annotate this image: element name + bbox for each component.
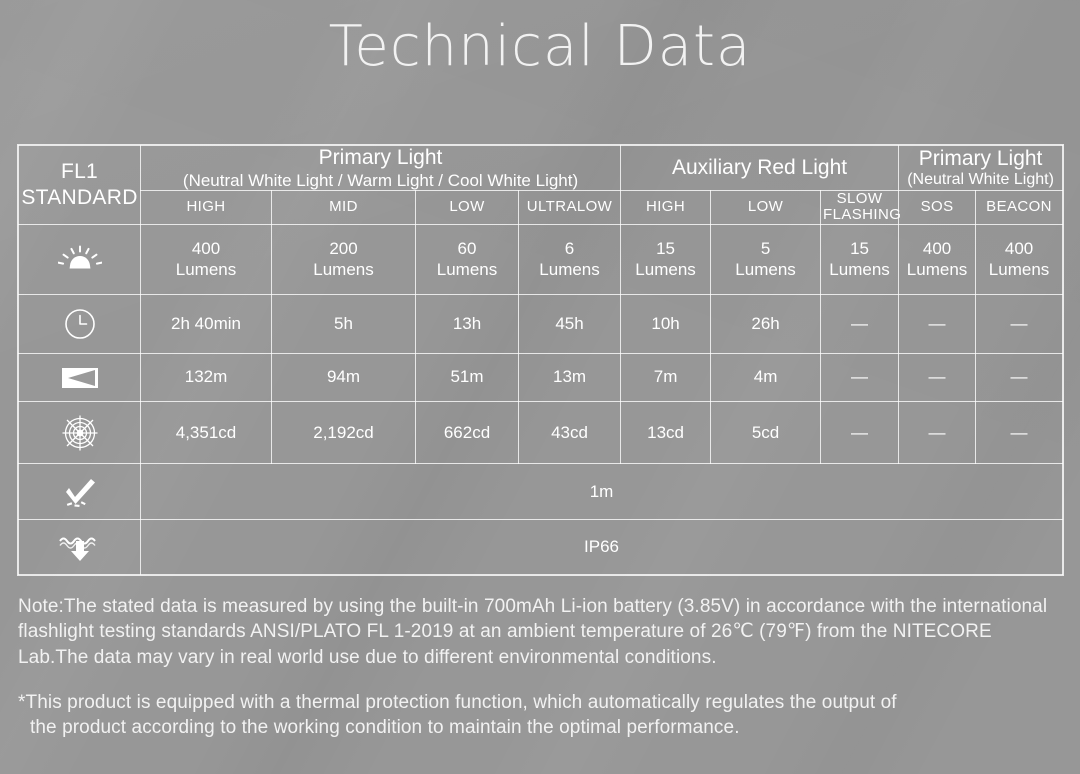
beam-distance-beacon: — [976, 353, 1063, 402]
waterproof-value: IP66 [141, 519, 1063, 574]
lumens-value-primary-high: 400 [192, 239, 220, 258]
mode-header-red-high: HIGH [621, 190, 711, 225]
lumens-sos: 400Lumens [899, 225, 976, 295]
peak-intensity-icon-cell [19, 402, 141, 464]
peak-intensity-red-low: 5cd [711, 402, 821, 464]
impact-resistance-icon-cell [19, 464, 141, 519]
lumens-unit-primary-mid: Lumens [274, 260, 413, 280]
mode-header-red-low: LOW [711, 190, 821, 225]
note-thermal-line1: This product is equipped with a thermal … [26, 692, 897, 713]
lumens-value-beacon: 400 [1005, 239, 1033, 258]
waterproof-icon [56, 531, 104, 563]
lumens-value-red-low: 5 [761, 239, 770, 258]
peak-intensity-red-high: 13cd [621, 402, 711, 464]
runtime-beacon: — [976, 295, 1063, 354]
mode-header-beacon: BEACON [976, 190, 1063, 225]
table-header-group-row: FL1 STANDARD Primary Light (Neutral Whit… [19, 146, 1063, 191]
peak-intensity-primary-high: 4,351cd [141, 402, 272, 464]
mode-header-primary-mid: MID [272, 190, 416, 225]
lumens-red-high: 15Lumens [621, 225, 711, 295]
peak-intensity-primary-mid: 2,192cd [272, 402, 416, 464]
runtime-sos: — [899, 295, 976, 354]
runtime-clock-icon [63, 307, 97, 341]
lumens-value-primary-mid: 200 [329, 239, 357, 258]
lumens-unit-red-high: Lumens [623, 260, 708, 280]
runtime-red-low: 26h [711, 295, 821, 354]
mode-header-primary-high: HIGH [141, 190, 272, 225]
note-thermal-marker: * [18, 692, 26, 713]
lumens-value-red-slow-flashing: 15 [850, 239, 869, 258]
peak-intensity-primary-ultralow: 43cd [519, 402, 621, 464]
fl1-standard-line1: FL1 [61, 160, 98, 183]
beam-distance-primary-high: 132m [141, 353, 272, 402]
group-title-primary-light-2: Primary Light [919, 147, 1043, 170]
lumens-value-primary-low: 60 [458, 239, 477, 258]
lumens-value-sos: 400 [923, 239, 951, 258]
runtime-clock-icon-cell [19, 295, 141, 354]
brightness-sun-icon-cell [19, 225, 141, 295]
lumens-unit-sos: Lumens [901, 260, 973, 280]
peak-intensity-sos: — [899, 402, 976, 464]
fl1-standard-line2: STANDARD [21, 185, 138, 211]
note-thermal-line2: the product according to the working con… [18, 715, 1062, 740]
table-row-waterproof: IP66 [19, 519, 1063, 574]
lumens-unit-primary-high: Lumens [143, 260, 269, 280]
runtime-primary-ultralow: 45h [519, 295, 621, 354]
lumens-beacon: 400Lumens [976, 225, 1063, 295]
group-header-primary-light-sos-beacon: Primary Light (Neutral White Light) [899, 146, 1063, 191]
runtime-red-high: 10h [621, 295, 711, 354]
notes-section: Note:The stated data is measured by usin… [18, 594, 1062, 740]
table-row-peak-intensity: 4,351cd 2,192cd 662cd 43cd 13cd 5cd — — … [19, 402, 1063, 464]
lumens-value-primary-ultralow: 6 [565, 239, 574, 258]
lumens-unit-red-low: Lumens [713, 260, 818, 280]
impact-resistance-icon [59, 476, 101, 508]
runtime-red-slow-flashing: — [821, 295, 899, 354]
beam-distance-sos: — [899, 353, 976, 402]
note-measurement: Note:The stated data is measured by usin… [18, 594, 1062, 670]
note-thermal-protection: *This product is equipped with a thermal… [18, 690, 1062, 741]
runtime-primary-low: 13h [416, 295, 519, 354]
mode-header-primary-low: LOW [416, 190, 519, 225]
table-header-mode-row: HIGH MID LOW ULTRALOW HIGH LOW SLOW FLAS… [19, 190, 1063, 225]
table-row-runtime: 2h 40min 5h 13h 45h 10h 26h — — — [19, 295, 1063, 354]
beam-distance-primary-ultralow: 13m [519, 353, 621, 402]
beam-distance-red-low: 4m [711, 353, 821, 402]
group-subtitle-primary-light-2: (Neutral White Light) [901, 171, 1060, 189]
beam-distance-red-slow-flashing: — [821, 353, 899, 402]
peak-intensity-beacon: — [976, 402, 1063, 464]
group-title-primary-light: Primary Light [319, 146, 443, 169]
technical-data-table: FL1 STANDARD Primary Light (Neutral Whit… [18, 145, 1063, 575]
waterproof-icon-cell [19, 519, 141, 574]
beam-distance-red-high: 7m [621, 353, 711, 402]
beam-distance-icon [59, 364, 101, 392]
group-header-primary-light: Primary Light (Neutral White Light / War… [141, 146, 621, 191]
page-title: Technical Data [0, 0, 1080, 79]
lumens-value-red-high: 15 [656, 239, 675, 258]
lumens-red-low: 5Lumens [711, 225, 821, 295]
runtime-primary-high: 2h 40min [141, 295, 272, 354]
technical-data-table-wrapper: FL1 STANDARD Primary Light (Neutral Whit… [18, 145, 1062, 575]
group-header-auxiliary-red-light: Auxiliary Red Light [621, 146, 899, 191]
table-row-lumens: 400Lumens 200Lumens 60Lumens 6Lumens 15L… [19, 225, 1063, 295]
lumens-primary-low: 60Lumens [416, 225, 519, 295]
mode-header-sos: SOS [899, 190, 976, 225]
table-row-impact-resistance: 1m [19, 464, 1063, 519]
fl1-standard-header: FL1 STANDARD [19, 146, 141, 225]
impact-resistance-value: 1m [141, 464, 1063, 519]
lumens-unit-primary-ultralow: Lumens [521, 260, 618, 280]
technical-data-page: Technical Data FL1 STANDARD [0, 0, 1080, 774]
beam-distance-primary-mid: 94m [272, 353, 416, 402]
table-row-beam-distance: 132m 94m 51m 13m 7m 4m — — — [19, 353, 1063, 402]
peak-intensity-red-slow-flashing: — [821, 402, 899, 464]
lumens-primary-mid: 200Lumens [272, 225, 416, 295]
peak-intensity-primary-low: 662cd [416, 402, 519, 464]
beam-distance-icon-cell [19, 353, 141, 402]
mode-header-red-slow-flashing: SLOW FLASHING [821, 190, 899, 225]
group-subtitle-primary-light: (Neutral White Light / Warm Light / Cool… [143, 171, 618, 190]
mode-header-primary-ultralow: ULTRALOW [519, 190, 621, 225]
peak-intensity-icon [61, 415, 99, 451]
brightness-sun-icon [58, 245, 102, 275]
lumens-primary-high: 400Lumens [141, 225, 272, 295]
group-title-auxiliary-red-light: Auxiliary Red Light [672, 156, 847, 179]
lumens-unit-red-slow-flashing: Lumens [823, 260, 896, 280]
lumens-unit-primary-low: Lumens [418, 260, 516, 280]
runtime-primary-mid: 5h [272, 295, 416, 354]
lumens-primary-ultralow: 6Lumens [519, 225, 621, 295]
lumens-red-slow-flashing: 15Lumens [821, 225, 899, 295]
lumens-unit-beacon: Lumens [978, 260, 1060, 280]
beam-distance-primary-low: 51m [416, 353, 519, 402]
